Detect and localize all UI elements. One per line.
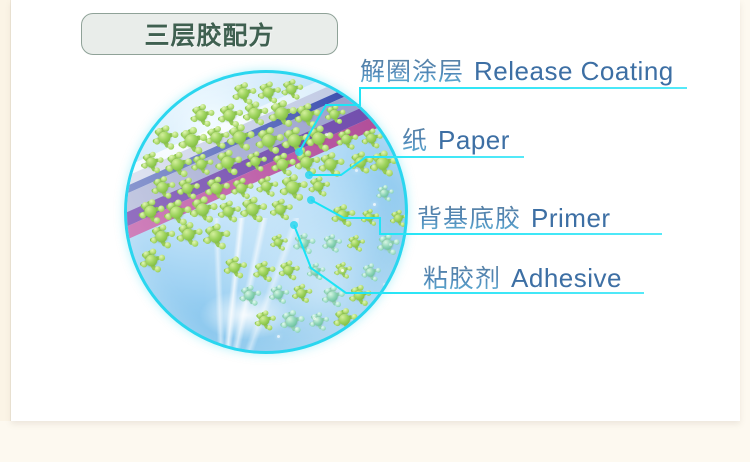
molecule-atom <box>242 82 248 88</box>
molecule-core <box>274 290 283 299</box>
molecule-node <box>256 176 276 196</box>
molecule-atom <box>190 127 197 134</box>
molecule-atom <box>219 242 226 249</box>
molecule-core <box>313 132 326 145</box>
sparkle <box>389 243 392 246</box>
molecule-atom <box>231 168 238 175</box>
molecule-atom <box>349 210 355 216</box>
molecule-node <box>255 127 281 153</box>
molecule-atom <box>376 268 381 273</box>
molecule-core <box>380 189 388 197</box>
molecule-atom <box>248 184 254 190</box>
molecule-node <box>242 102 265 125</box>
molecule-node <box>361 209 377 225</box>
molecule-node <box>270 199 291 220</box>
molecule-atom <box>267 127 274 134</box>
molecule-node <box>165 152 189 176</box>
molecule-atom <box>320 268 325 273</box>
content-card: 三层胶配方 <box>11 0 740 421</box>
molecule-core <box>234 132 247 145</box>
molecule-node <box>239 285 259 305</box>
molecule-atom <box>149 199 155 205</box>
molecule-core <box>327 239 336 248</box>
label-primer-en: Primer <box>531 203 611 234</box>
molecule-atom <box>317 276 322 281</box>
molecule-core <box>286 181 299 194</box>
molecule-atom <box>358 284 364 290</box>
molecule-atom <box>310 168 316 174</box>
molecule-node <box>361 129 380 148</box>
molecule-atom <box>154 266 160 272</box>
molecule-core <box>197 203 210 216</box>
molecule-node <box>215 150 240 175</box>
sparkle <box>363 327 366 330</box>
molecule-atom <box>219 143 225 149</box>
molecule-node <box>389 210 406 227</box>
molecule-node <box>177 177 198 198</box>
molecule-core <box>394 214 402 222</box>
molecule-node <box>361 263 379 281</box>
molecule-node <box>190 197 215 222</box>
molecule-atom <box>345 275 349 279</box>
molecule-core <box>259 316 269 326</box>
molecule-core <box>223 109 234 120</box>
label-adhesive-cn: 粘胶剂 <box>423 259 501 295</box>
molecule-atom <box>228 103 234 109</box>
molecule-core <box>236 184 246 194</box>
molecule-core <box>196 159 206 169</box>
label-release-coating-en: Release Coating <box>474 56 674 87</box>
molecule-atom <box>158 255 164 261</box>
molecule-node <box>190 104 212 126</box>
molecule-node <box>232 82 254 104</box>
molecule-atom <box>281 246 285 250</box>
sparkle <box>325 133 328 136</box>
molecule-atom <box>237 273 243 279</box>
molecule-atom <box>256 290 261 295</box>
molecule-node <box>152 126 176 150</box>
molecule-node <box>280 310 302 332</box>
molecule-atom <box>294 94 299 99</box>
molecule-core <box>339 314 350 325</box>
molecule-atom <box>270 192 275 197</box>
molecule-node <box>324 105 343 124</box>
molecule-core <box>366 268 375 277</box>
molecule-atom <box>334 170 340 176</box>
molecule-atom <box>304 298 309 303</box>
molecule-core <box>229 262 240 273</box>
molecule-node <box>217 103 240 126</box>
molecule-atom <box>287 260 292 265</box>
molecule-atom <box>267 325 272 330</box>
molecule-core <box>287 85 297 95</box>
molecule-node <box>139 249 162 272</box>
molecule-node <box>176 222 200 246</box>
molecule-atom <box>386 170 393 177</box>
molecule-node <box>294 150 317 173</box>
molecule-atom <box>214 223 221 230</box>
molecule-core <box>221 156 233 168</box>
molecule-core <box>283 265 293 275</box>
molecule-atom <box>358 248 362 252</box>
sparkle <box>355 169 358 172</box>
molecule-atom <box>373 277 378 282</box>
molecule-core <box>313 182 323 192</box>
molecule-atom <box>215 176 221 182</box>
molecule-atom <box>261 203 268 210</box>
molecule-atom <box>361 240 365 244</box>
molecule-atom <box>317 125 324 132</box>
molecule-core <box>245 290 255 300</box>
left-gutter <box>0 0 10 421</box>
molecule-atom <box>310 238 316 244</box>
molecule-core <box>185 134 198 147</box>
molecule-atom <box>338 159 344 165</box>
sparkle <box>395 311 398 314</box>
molecule-atom <box>165 242 171 248</box>
molecule-node <box>308 176 328 196</box>
label-paper-en: Paper <box>438 125 510 156</box>
molecule-core <box>223 206 234 217</box>
molecule-atom <box>363 167 369 173</box>
molecule-core <box>311 268 319 276</box>
page-title: 三层胶配方 <box>144 16 274 52</box>
molecule-core <box>341 135 351 145</box>
label-adhesive-en: Adhesive <box>511 263 622 294</box>
molecule-core <box>247 204 259 216</box>
molecule-atom <box>321 326 326 331</box>
molecule-atom <box>208 110 214 116</box>
molecule-atom <box>349 144 354 149</box>
molecule-node <box>223 256 244 277</box>
molecule-atom <box>393 239 399 245</box>
molecule-node <box>370 151 395 176</box>
molecule-core <box>301 157 313 169</box>
molecule-node <box>279 174 305 200</box>
molecule-node <box>163 200 188 225</box>
molecule-node <box>331 204 353 226</box>
label-release-coating: 解圈涂层 Release Coating <box>360 52 674 88</box>
sparkle <box>341 269 344 272</box>
molecule-atom <box>359 151 365 157</box>
cross-section-illustration <box>124 70 408 354</box>
molecule-atom <box>334 248 339 253</box>
molecule-core <box>259 267 269 277</box>
molecule-node <box>202 223 227 248</box>
molecule-node <box>376 185 392 201</box>
molecule-atom <box>262 108 268 114</box>
molecule-node <box>321 286 342 307</box>
molecule-atom <box>291 174 298 181</box>
molecule-atom <box>291 275 296 280</box>
sparkle <box>383 283 386 286</box>
molecule-core <box>327 292 337 302</box>
molecule-atom <box>322 144 329 151</box>
sparkle <box>373 203 376 206</box>
molecule-core <box>145 255 157 267</box>
molecule-atom <box>339 292 345 298</box>
molecule-core <box>211 182 222 193</box>
molecule-atom <box>352 314 358 320</box>
molecule-atom <box>223 230 230 237</box>
molecule-core <box>276 205 286 215</box>
molecule-atom <box>220 194 226 200</box>
molecule-atom <box>241 262 247 268</box>
molecule-core <box>277 159 288 170</box>
molecule-atom <box>296 193 303 200</box>
molecule-atom <box>208 159 214 165</box>
molecule-atom <box>337 239 342 244</box>
molecule-node <box>151 176 173 198</box>
molecule-atom <box>400 223 405 228</box>
molecule-atom <box>347 267 351 271</box>
molecule-node <box>333 308 355 330</box>
molecule-atom <box>294 265 299 270</box>
molecule-atom <box>257 119 263 125</box>
molecule-atom <box>231 216 237 222</box>
molecule-node <box>278 260 297 279</box>
molecule-atom <box>186 177 192 183</box>
molecule-core <box>377 157 390 170</box>
molecule-node <box>205 126 227 148</box>
molecule-core <box>211 132 222 143</box>
molecule-node <box>231 178 251 198</box>
molecule-node <box>138 199 162 223</box>
molecule-atom <box>299 316 305 322</box>
molecule-atom <box>403 214 408 219</box>
molecule-atom <box>224 182 230 188</box>
molecule-node <box>376 233 397 254</box>
molecule-atom <box>308 289 313 294</box>
label-release-coating-cn: 解圈涂层 <box>360 52 464 88</box>
molecule-core <box>250 157 260 167</box>
sparkle <box>277 335 280 338</box>
molecule-atom <box>270 316 275 321</box>
molecule-core <box>301 110 313 122</box>
molecule-node <box>269 285 287 303</box>
molecule-atom <box>324 181 329 186</box>
molecule-core <box>263 87 274 98</box>
molecule-atom <box>389 189 393 193</box>
molecule-atom <box>324 317 329 322</box>
molecule-core <box>337 210 348 221</box>
molecule-atom <box>301 181 308 188</box>
molecule-atom <box>154 167 160 173</box>
molecule-core <box>170 206 183 219</box>
molecule-atom <box>226 150 233 157</box>
molecule-atom <box>386 233 392 239</box>
molecule-atom <box>153 217 159 223</box>
molecule-atom <box>273 182 278 187</box>
molecule-atom <box>200 104 206 110</box>
molecule-atom <box>375 214 379 218</box>
molecule-node <box>253 261 273 281</box>
molecule-atom <box>158 157 164 163</box>
molecule-node <box>293 233 313 253</box>
molecule-node <box>294 104 318 128</box>
molecule-core <box>146 157 156 167</box>
molecule-node <box>336 129 356 149</box>
molecule-core <box>182 183 193 194</box>
molecule-atom <box>390 249 396 255</box>
molecule-atom <box>252 300 257 305</box>
molecule-core <box>157 182 168 193</box>
molecule-core <box>156 231 168 243</box>
molecule-core <box>286 316 297 327</box>
molecule-atom <box>284 290 289 295</box>
label-adhesive: 粘胶剂 Adhesive <box>423 259 622 295</box>
molecule-core <box>288 134 301 147</box>
page-title-pill: 三层胶配方 <box>81 13 338 55</box>
molecule-atom <box>363 300 369 306</box>
molecule-atom <box>227 200 233 206</box>
molecule-core <box>171 159 183 171</box>
molecule-atom <box>340 110 345 115</box>
sparkle <box>313 317 316 320</box>
label-paper-cn: 纸 <box>402 121 428 157</box>
molecule-core <box>159 132 171 144</box>
molecule-core <box>355 157 366 168</box>
molecule-core <box>329 110 338 119</box>
label-primer: 背基底胶 Primer <box>417 199 611 235</box>
molecule-node <box>245 152 265 172</box>
molecule-node <box>254 311 273 330</box>
molecule-atom <box>374 144 379 149</box>
label-paper: 纸 Paper <box>402 121 510 157</box>
molecule-node <box>349 284 369 304</box>
molecule-atom <box>194 183 200 189</box>
molecule-atom <box>321 191 326 196</box>
molecule-node <box>271 153 293 175</box>
molecule-core <box>144 205 156 217</box>
molecule-node <box>191 154 211 174</box>
molecule-atom <box>204 169 210 175</box>
molecule-atom <box>335 302 341 308</box>
molecule-node <box>349 151 370 172</box>
molecule-node <box>150 225 173 248</box>
molecule-core <box>276 107 289 120</box>
molecule-atom <box>169 231 175 237</box>
molecule-node <box>268 100 294 126</box>
molecule-core <box>262 182 272 192</box>
molecule-node <box>347 235 363 251</box>
molecule-atom <box>348 325 354 331</box>
molecule-atom <box>288 205 294 211</box>
molecule-node <box>318 152 342 176</box>
molecule-node <box>227 125 252 150</box>
molecule-node <box>309 312 327 330</box>
molecule-atom <box>281 299 286 304</box>
illustration-canvas <box>127 73 405 351</box>
molecule-node <box>270 234 286 250</box>
molecule-node <box>292 284 310 302</box>
molecule-core <box>183 229 195 241</box>
molecule-atom <box>337 119 342 124</box>
molecule-atom <box>346 221 352 227</box>
molecule-atom <box>366 290 372 296</box>
molecule-atom <box>353 135 358 140</box>
molecule-core <box>262 134 275 147</box>
molecule-core <box>275 238 283 246</box>
molecule-core <box>325 159 337 171</box>
molecule-core <box>298 239 308 249</box>
molecule-atom <box>295 327 301 333</box>
molecule-core <box>238 88 249 99</box>
molecule-atom <box>248 285 253 290</box>
molecule-atom <box>372 222 376 226</box>
molecule-node <box>322 234 340 252</box>
molecule-node <box>178 127 204 153</box>
molecule-atom <box>306 249 312 255</box>
molecule-core <box>355 290 365 300</box>
page-root: 三层胶配方 <box>0 0 750 462</box>
molecule-atom <box>378 134 383 139</box>
sparkle <box>333 351 336 354</box>
molecule-atom <box>250 88 256 94</box>
molecule-node <box>281 79 301 99</box>
molecule-atom <box>391 157 398 164</box>
label-primer-cn: 背基底胶 <box>417 199 521 235</box>
molecule-core <box>209 230 222 243</box>
molecule-node <box>306 263 323 280</box>
molecule-core <box>196 110 207 121</box>
molecule-node <box>240 197 265 222</box>
molecule-node <box>306 125 331 150</box>
molecule-node <box>218 200 239 221</box>
molecule-atom <box>386 197 390 201</box>
molecule-core <box>248 108 260 120</box>
molecule-node <box>140 152 161 173</box>
molecule-atom <box>235 156 242 163</box>
